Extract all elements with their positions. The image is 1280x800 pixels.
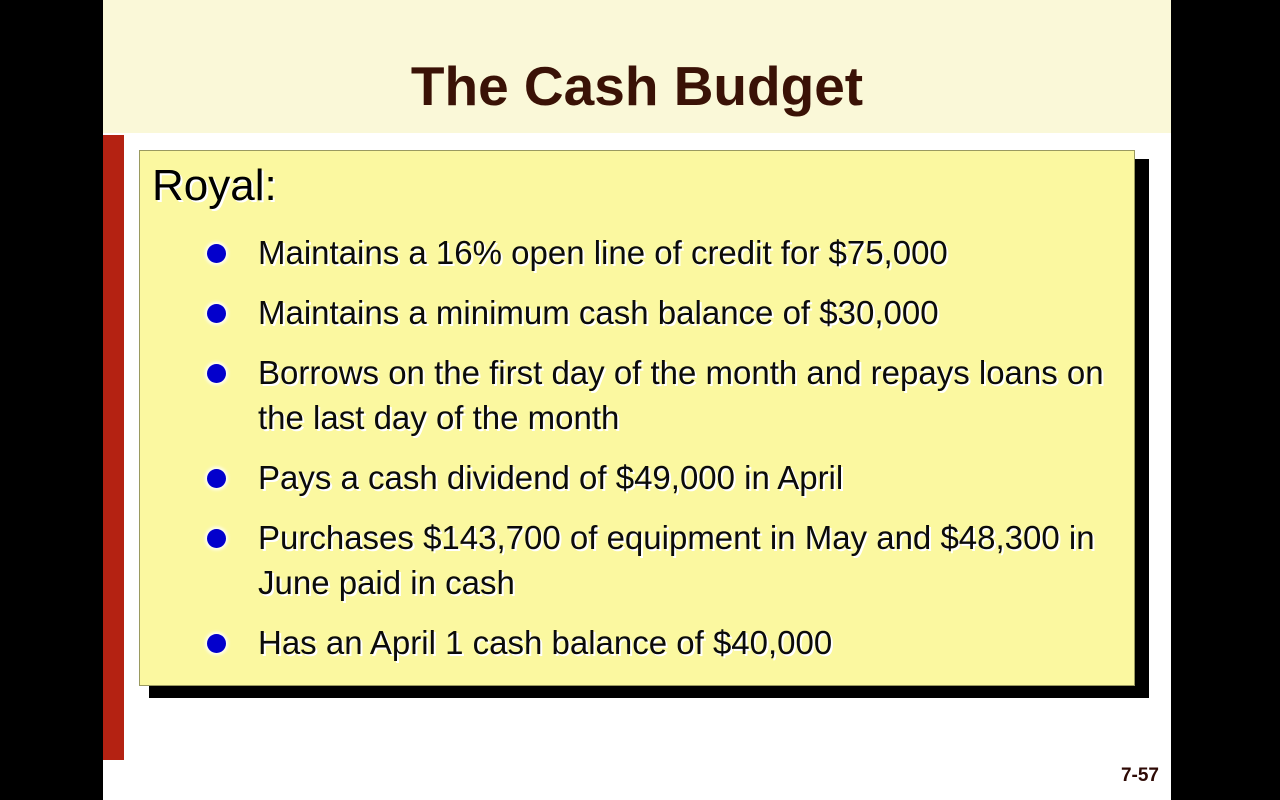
list-item: Borrows on the first day of the month an…: [202, 350, 1122, 440]
bullet-dot-icon: [207, 529, 226, 548]
list-item: Purchases $143,700 of equipment in May a…: [202, 515, 1122, 605]
list-item: Maintains a minimum cash balance of $30,…: [202, 290, 1122, 335]
page-number: 7-57: [1121, 765, 1159, 787]
list-item-label: Maintains a 16% open line of credit for …: [258, 230, 1122, 275]
left-accent-bar: [103, 135, 124, 760]
slide-screen: The Cash Budget Royal: Maintains a 16% o…: [0, 0, 1280, 800]
list-item: Has an April 1 cash balance of $40,000: [202, 620, 1122, 665]
list-item-label: Has an April 1 cash balance of $40,000: [258, 620, 1122, 665]
list-item-label: Maintains a minimum cash balance of $30,…: [258, 290, 1122, 335]
bullet-dot-icon: [207, 244, 226, 263]
content-heading: Royal:: [152, 160, 277, 212]
slide-canvas: The Cash Budget Royal: Maintains a 16% o…: [103, 0, 1171, 800]
bullet-dot-icon: [207, 469, 226, 488]
list-item-label: Borrows on the first day of the month an…: [258, 350, 1122, 440]
list-item-label: Purchases $143,700 of equipment in May a…: [258, 515, 1122, 605]
bullet-dot-icon: [207, 634, 226, 653]
slide-title-band: The Cash Budget: [103, 0, 1171, 133]
list-item: Maintains a 16% open line of credit for …: [202, 230, 1122, 275]
list-item-label: Pays a cash dividend of $49,000 in April: [258, 455, 1122, 500]
bullet-dot-icon: [207, 364, 226, 383]
bullet-dot-icon: [207, 304, 226, 323]
list-item: Pays a cash dividend of $49,000 in April: [202, 455, 1122, 500]
bullet-list: Maintains a 16% open line of credit for …: [202, 230, 1122, 665]
page-title: The Cash Budget: [103, 56, 1171, 116]
content-box: Royal: Maintains a 16% open line of cred…: [139, 150, 1135, 686]
